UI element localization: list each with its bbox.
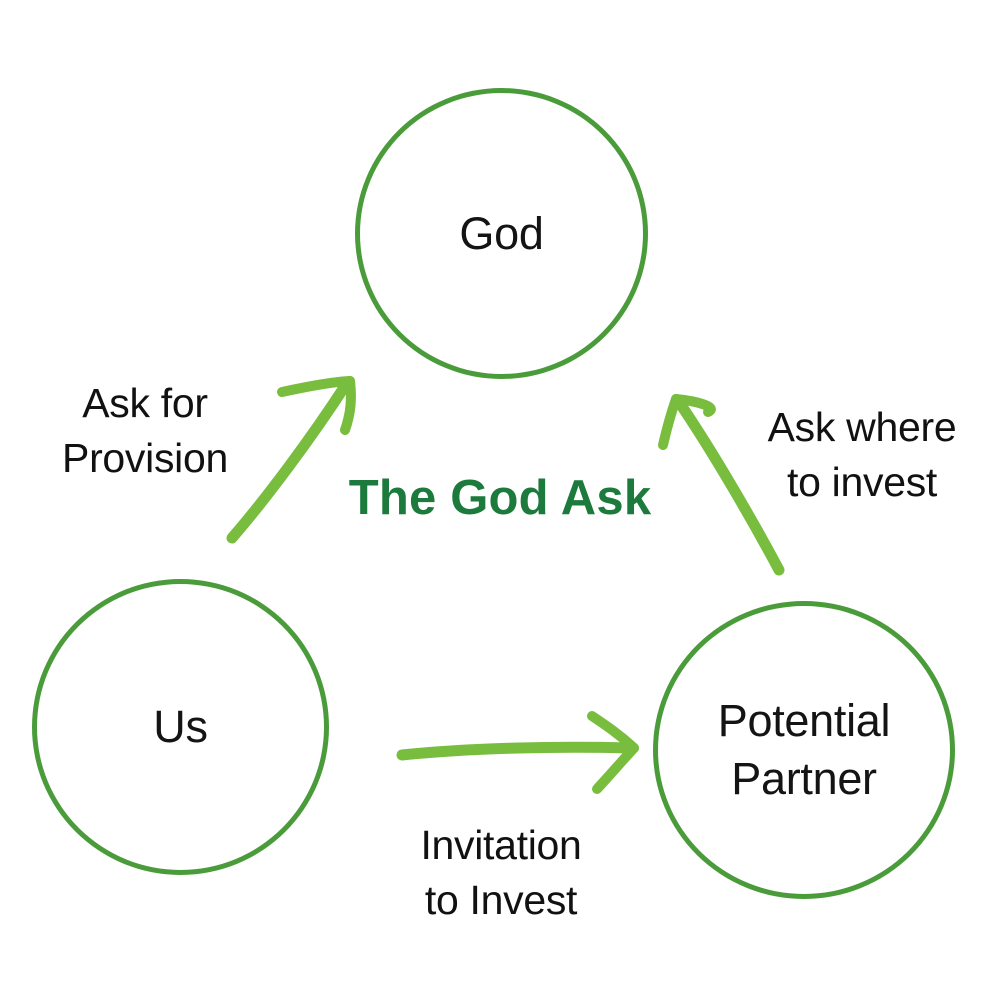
node-god[interactable]: God <box>355 88 648 379</box>
node-potential-partner-label: Potential Partner <box>718 692 890 807</box>
edge-label-invitation-to-invest: Invitation to Invest <box>378 818 624 927</box>
node-potential-partner[interactable]: Potential Partner <box>653 601 955 899</box>
arrow-us-to-partner <box>402 716 634 789</box>
node-us[interactable]: Us <box>32 579 329 875</box>
node-us-label: Us <box>153 698 207 756</box>
edge-label-ask-for-provision: Ask for Provision <box>20 376 270 485</box>
diagram-title: The God Ask <box>340 463 660 534</box>
edge-label-ask-where-to-invest: Ask where to invest <box>742 400 982 509</box>
node-god-label: God <box>459 205 543 263</box>
diagram-canvas: God Us Potential Partner Ask for Provisi… <box>0 0 1000 1000</box>
